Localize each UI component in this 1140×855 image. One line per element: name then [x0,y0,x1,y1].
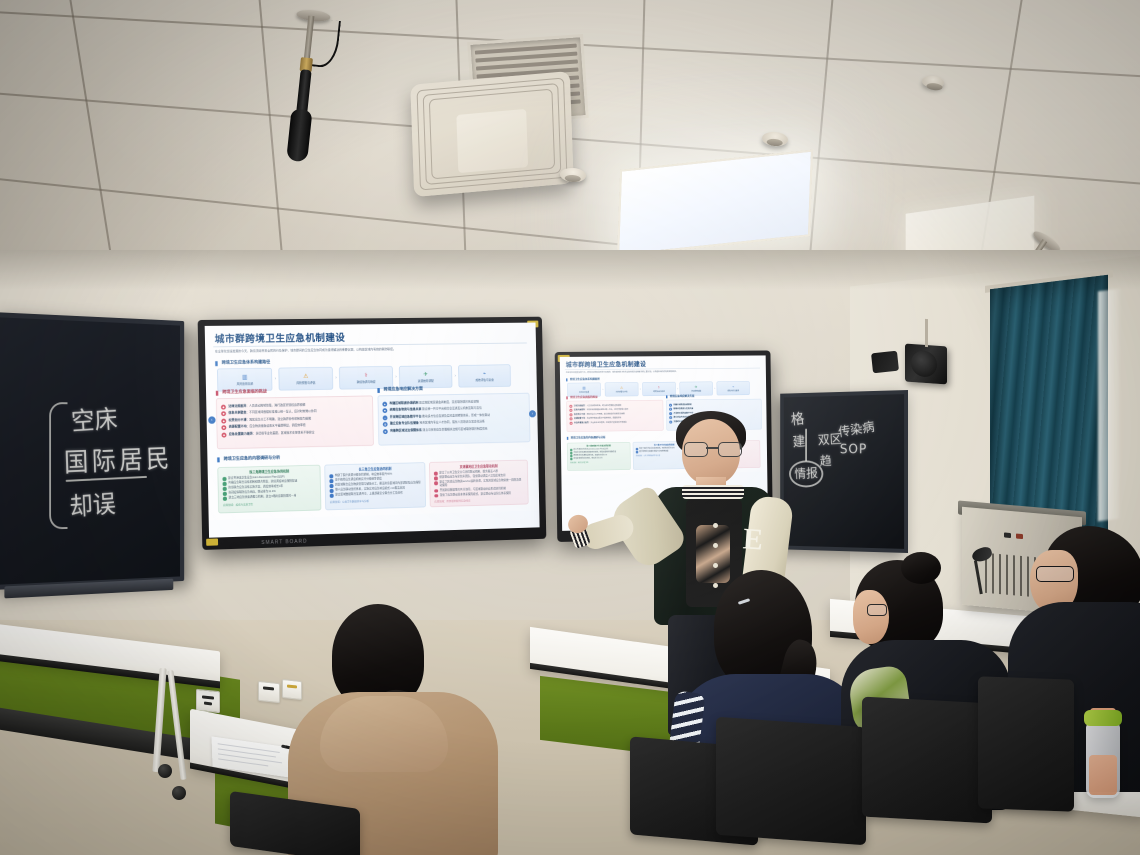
bullet-icon: ▲ [382,401,387,406]
bullet-icon: ◆ [569,405,572,408]
table-caster [172,786,186,800]
chalk-r-6: SOP [840,442,867,457]
bullet-icon: ◆ [570,417,573,420]
check-icon [329,479,333,483]
bullet-icon: ◍ [383,422,388,427]
chevron-right-icon: › [275,377,277,382]
chevron-right-icon: › [395,375,397,380]
bullet-icon: ■ [669,408,672,411]
chevron-right-icon: › [714,387,715,390]
check-icon [330,494,334,498]
analysis-cards: 珠三角跨境卫生应急协同机制 建立粤港澳卫生应急Joint discussion … [217,460,528,514]
student-bun [901,552,941,584]
chevron-right-icon: › [335,376,337,381]
presenter-collar [682,485,744,499]
check-icon [434,472,438,476]
window-light [1098,289,1120,522]
glasses-icon [684,442,740,455]
challenges-column: ◆ 法律法规差异：人员流动跨域性强，跨行政区管辖权边界模糊 ◆ 信息共享壁垒：不… [216,395,374,449]
check-icon [223,497,227,501]
check-icon [222,477,226,481]
wall-ceiling-shadow [0,250,1140,290]
chalk-line-2: 国际居民 [63,438,173,480]
check-icon [570,458,572,460]
smart-display-left[interactable]: SMART BOARD 城市群跨境卫生应急机制建设 在全球化加速发展的今天，跨境… [198,317,547,550]
bottle-lid [1084,710,1122,726]
process-flow-mirror: ▥风险监测直通 › ⚠风险预警与评估 › ⚕跨境协调与响应 › ✈资源统筹调配 … [567,381,750,397]
chevron-right-icon: › [640,388,641,391]
challenges-heading: 跨境卫生应急面临的挑战 [216,390,267,395]
power-outlet[interactable] [258,681,280,703]
bullet-icon: ◆ [569,409,572,412]
bullet-icon: ◆ [222,432,227,437]
analysis-heading: 跨境卫生应急的内容调研与分析 [217,456,280,462]
blackboard-left: 空床 国际居民 却误 [0,312,184,590]
bullet-icon: ◆ [221,411,226,416]
slide-title: 城市群跨境卫生应急机制建设 [215,330,346,345]
flow-step-3: ⚕ 跨境协调与响应 [339,366,393,390]
bullet-icon: ◈ [383,429,388,434]
flow-step-4: ✈ 资源统筹调配 [399,365,452,388]
check-icon [329,474,333,478]
flow-step-2: ⚠ 风险预警与评估 [278,367,333,391]
bullet-icon: □ [383,415,388,420]
bullet-icon: ◆ [569,413,572,416]
solutions-heading-mirror: 跨境应急响应解决方案 [666,395,694,398]
case-card-blue: 长三角卫生应急协同机制 构建了医疗资源分级协同机制，响应效率提升40% 基于统筹… [324,462,426,510]
chair[interactable] [862,697,992,824]
check-icon [434,494,438,498]
student-face [853,590,889,644]
check-icon [434,489,438,493]
chevron-right-icon: › [602,388,603,391]
water-bottle [1086,722,1120,798]
alert-person-icon: ⚕ [658,386,660,389]
slide-subtitle-mirror: 在全球化加速发展的今天，跨境流动带来全民的行及保护，城市群间的卫生应急协同成为亟… [566,370,760,374]
chalk-r-3: 传染病 [837,416,876,440]
solutions-heading: 跨境应急响应解决方案 [377,387,423,392]
bullet-icon: ◆ [221,418,226,423]
check-icon [223,482,227,486]
check-icon [570,449,572,451]
glasses-icon [1036,566,1074,582]
nav-next-icon[interactable]: › [529,410,536,417]
classroom-photo: 空床 国际居民 却误 格 双区 传染病 建 趋 SOP 情报 SMART BOA… [0,0,1140,855]
slide-flow-heading-mirror: 跨境卫生应急体系构建路径 [566,378,600,381]
student-hood [320,696,448,772]
chair[interactable] [716,717,866,845]
challenges-heading-mirror: 跨境卫生应急面临的挑战 [566,396,597,399]
chalk-line-1: 空床 [70,400,119,439]
slide-subtitle: 在全球化加速发展的今天，跨境流动带来全民的行及保护，城市群间的卫生应急协同成为亟… [215,346,527,354]
chevron-right-icon: › [454,374,456,379]
case-card-pink: 京津冀地区卫生应急联动机制 建立了公共卫生安全与协同联动机制，服务覆盖人群 组建… [429,460,529,507]
chalk-r-5: 趋 [819,450,831,469]
check-icon [330,489,334,493]
chair[interactable] [978,676,1074,811]
network-port[interactable] [282,679,302,700]
leaf-icon: ✈ [423,372,428,378]
flow-step-5: ⌁ 成效评估与复盘 [458,364,511,387]
glasses-icon [867,604,887,616]
slide-title-mirror: 城市群跨境卫生应急机制建设 [566,360,646,369]
bullet-icon: ▲ [669,403,672,406]
check-icon [570,452,572,454]
alert-person-icon: ⚕ [365,372,368,378]
warning-icon: ⚠ [303,373,308,379]
trend-icon: ⌁ [483,371,486,377]
bullet-icon: ◆ [570,422,573,425]
check-icon [223,492,227,496]
chalk-line-3: 却误 [68,484,116,523]
bullet-icon: ◆ [221,425,226,430]
wall-speaker-icon [871,351,899,374]
check-icon [434,481,438,485]
flow-step-1: ▥ 风险监测直通 [217,368,272,392]
process-flow: ▥ 风险监测直通 › ⚠ 风险预警与评估 › ⚕ 跨境协调与响应 › [217,364,511,391]
check-icon [330,484,334,488]
table-caster [158,764,172,778]
solutions-column: ▲ 构建区域联席协调机制 建立跨区域定期会商制度，完善联防联控响应流程 ■ 统筹… [378,393,531,446]
check-icon [434,476,438,480]
wall-speaker-icon [905,344,947,385]
ac-diffuser-icon [410,71,573,197]
case-card-green-mirror: 珠三角跨境卫生应急协同机制 建立粤港澳卫生应急Joint discussion … [567,442,631,471]
bullet-icon: ■ [383,408,388,413]
check-icon [223,487,227,491]
jacket-letter: E [739,522,767,558]
trend-icon: ⌁ [732,385,734,388]
chevron-right-icon: › [677,387,678,390]
case-card-green: 珠三角跨境卫生应急协同机制 建立粤港澳卫生应急Joint discussion … [217,465,321,514]
bottle-contents [1089,755,1117,795]
bar-chart-icon: ▥ [242,374,247,380]
check-icon [570,455,572,457]
analysis-heading-mirror: 跨境卫生应急的内容调研与分析 [567,436,606,439]
slide-flow-heading: 跨境卫生应急体系构建路径 [215,360,270,365]
chalk-r-2: 双区 [817,428,842,448]
nav-prev-icon[interactable]: ‹ [208,416,215,424]
bullet-icon: ◆ [221,404,226,409]
